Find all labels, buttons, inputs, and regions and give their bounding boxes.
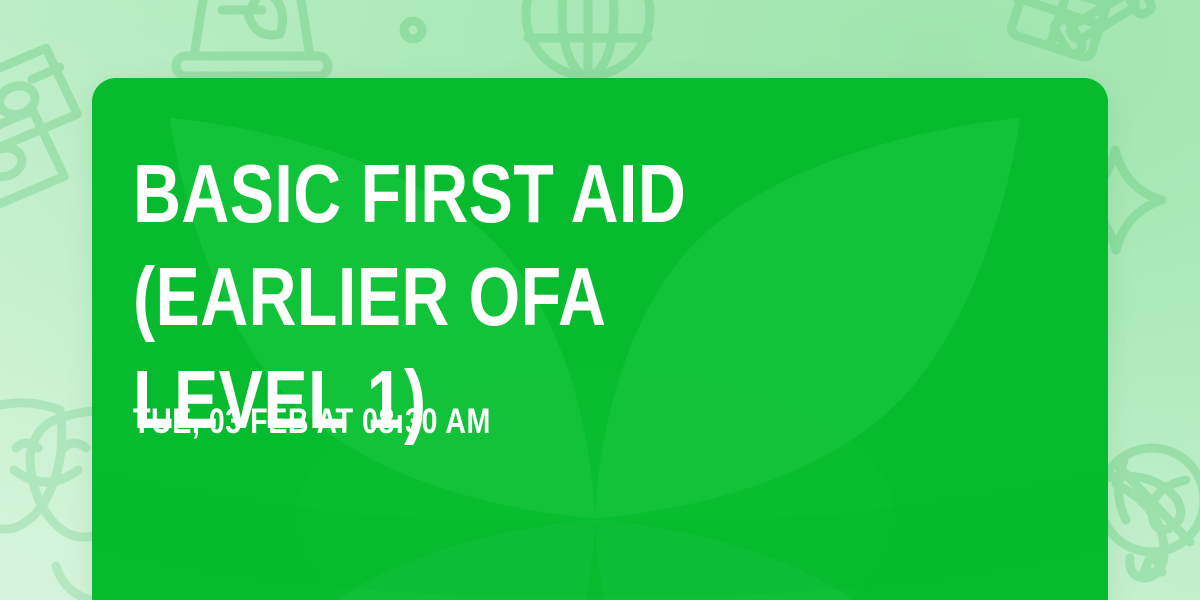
event-date: Tue, 03 Feb at 08:30 AM xyxy=(133,401,491,443)
card-text-block: Basic First Aid (earlier OFA Level 1) Tu… xyxy=(133,78,993,600)
event-card: Basic First Aid (earlier OFA Level 1) Tu… xyxy=(92,78,1108,600)
event-banner: Basic First Aid (earlier OFA Level 1) Tu… xyxy=(0,0,1200,600)
